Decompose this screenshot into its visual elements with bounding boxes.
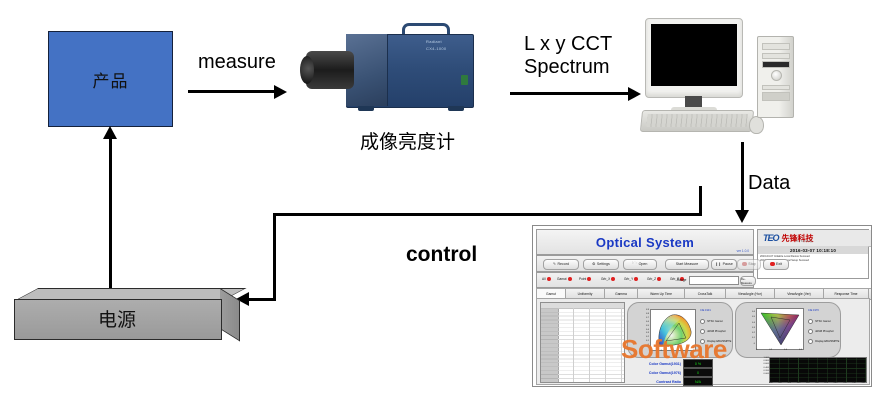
pause-button[interactable]: ❙❙ Pause: [711, 259, 737, 270]
tower-vent: [762, 43, 790, 50]
readout-contrast-ratio-label: Contrast Ratio: [629, 380, 681, 384]
checkbox-grb-x[interactable]: Grb_X: [601, 277, 615, 281]
cie1976-option-0[interactable]: NTSC Gamut: [808, 319, 831, 324]
software-screenshot[interactable]: Optical System ver 1.0.0 TEO 先锋科技 Teo Te…: [532, 225, 872, 387]
cie1976-x-ticks: 00.20.40.6: [756, 349, 802, 351]
readout-contrast-ratio-value: N/A: [683, 377, 713, 386]
pause-icon: ❙❙: [715, 262, 721, 266]
table-row-headers: [541, 308, 559, 382]
software-titlebar: Optical System ver 1.0.0: [536, 229, 754, 255]
cie1976-option-2[interactable]: Display EBU/SMPTE: [808, 339, 839, 344]
radio-icon: [808, 339, 813, 344]
vendor-logo-mark: TEO: [763, 233, 779, 243]
tab-gamma-label: Gamma: [615, 292, 627, 296]
exit-icon: [770, 262, 775, 267]
vendor-logo-sub: Teo Technology: [796, 240, 813, 243]
monitor-bezel: [645, 18, 743, 98]
readout-contrast-ratio: Contrast Ratio N/A: [629, 377, 713, 386]
tab-warm-up-time-label: Warm Up Time: [650, 292, 672, 296]
tab-uniformity-label: Uniformity: [578, 292, 593, 296]
status-dot-icon: [657, 277, 661, 281]
tab-crosstalk-label: CrossTalk: [698, 292, 712, 296]
camera-caption: 成像亮度计: [360, 127, 455, 154]
power-to-product-arrow: [103, 126, 117, 290]
keyboard-keys: [646, 114, 747, 127]
imaging-luminance-meter: Radiant CX4-1000: [298, 20, 473, 115]
data-edge-label: Data: [748, 172, 790, 195]
checkbox-grb-z[interactable]: Grb_Z: [647, 277, 661, 281]
exit-button[interactable]: Exit: [763, 259, 789, 270]
tab-viewangle-hor-label: ViewAngle (Hor): [738, 292, 762, 296]
status-dot-icon: [611, 277, 615, 281]
status-dot-icon: [587, 277, 591, 281]
cie1976-option-1[interactable]: sRGB Phosphor: [808, 329, 834, 334]
keyboard: [640, 110, 754, 132]
cie1976-y-ticks: 0.60.50.40.30.20.10: [746, 310, 755, 347]
range-label: Range: [677, 278, 686, 282]
checkbox-point-label: Point: [579, 277, 586, 281]
tower-drive-slot: [762, 61, 790, 68]
pause-button-label: Pause: [723, 262, 733, 266]
cie1931-option-0[interactable]: NTSC Gamut: [700, 319, 723, 324]
checkbox-grb-y[interactable]: Grb_Y: [624, 277, 638, 281]
cie1976-plot[interactable]: [756, 308, 804, 350]
signal-edge-label: L x y CCT Spectrum: [524, 33, 612, 79]
tab-response-time-label: Response Time: [835, 292, 858, 296]
readout-color-gamut-1976: Color Gamut(1976) 0: [629, 368, 713, 377]
cie1976-options: CIE 1976 NTSC Gamut sRGB Phosphor Displa…: [806, 309, 846, 353]
camera-brand-text: Radiant: [426, 39, 442, 44]
cie1931-option-0-label: NTSC Gamut: [707, 320, 723, 323]
cie1976-gamut-icon: [757, 309, 803, 349]
checkbox-all-label: All: [542, 277, 546, 281]
tower-panel-line: [762, 85, 790, 90]
vendor-logo-row: TEO 先锋科技 Teo Technology: [758, 230, 872, 247]
cie1931-caption: CIE 1931: [700, 309, 711, 312]
spectrum-chart[interactable]: [769, 357, 867, 383]
power-supply-side-face: [220, 288, 240, 341]
re-measure-button[interactable]: Re-Measure: [740, 276, 756, 286]
radio-icon: [700, 319, 705, 324]
tab-viewangle-ver-label: ViewAngle (Ver): [787, 292, 811, 296]
stop-button-label: Stop: [748, 262, 755, 266]
cie1976-option-0-label: NTSC Gamut: [815, 320, 831, 323]
camera-lens: [306, 51, 354, 89]
software-title: Optical System: [596, 235, 694, 250]
signal-arrow: [510, 87, 642, 101]
checkbox-all[interactable]: All: [542, 277, 551, 281]
stop-icon: [742, 262, 747, 267]
software-watermark: Software: [621, 334, 727, 365]
open-button-label: Open: [639, 262, 648, 266]
product-node: 产品: [48, 31, 173, 127]
checkbox-gamut-label: Gamut: [557, 277, 567, 281]
checkbox-grb-x-label: Grb_X: [601, 277, 610, 281]
computer-node: [645, 18, 775, 138]
camera-foot-left: [358, 106, 374, 111]
camera-foot-right: [448, 106, 464, 111]
cie1976-option-1-label: sRGB Phosphor: [815, 330, 834, 333]
status-dot-icon: [568, 277, 572, 281]
settings-button-label: Settings: [597, 262, 610, 266]
product-label: 产品: [93, 67, 129, 92]
folder-icon: 🗁: [633, 261, 637, 267]
software-filter-bar: All Gamut Point Grb_X Grb_Y Grb_Z Grb_R …: [536, 272, 754, 288]
record-button-label: Record: [557, 262, 569, 266]
start-measure-button-label: Start Measure: [676, 262, 699, 266]
radio-icon: [808, 319, 813, 324]
vendor-logo-panel: TEO 先锋科技 Teo Technology 2016-03-07 10:18…: [757, 229, 869, 279]
cie1931-option-1-label: sRGB Phosphor: [707, 330, 726, 333]
camera-indicator-led: [461, 75, 468, 85]
pc-tower: [757, 36, 794, 118]
readout-color-gamut-1976-value: 0: [683, 368, 713, 377]
measurement-table[interactable]: [540, 302, 625, 383]
range-input[interactable]: [689, 276, 739, 285]
checkbox-grb-z-label: Grb_Z: [647, 277, 656, 281]
power-supply-label: 电源: [14, 299, 220, 338]
mouse: [749, 116, 764, 134]
open-button[interactable]: 🗁 Open: [623, 259, 657, 270]
table-cells-grid: [558, 308, 624, 382]
stop-button[interactable]: Stop: [737, 259, 761, 270]
tower-optical-drive: [762, 53, 790, 59]
gear-icon: ⚙: [592, 262, 595, 266]
re-measure-button-label: Re-Measure: [741, 277, 755, 285]
pencil-icon: ✎: [553, 262, 556, 266]
monitor-screen: [651, 24, 737, 86]
checkbox-grb-y-label: Grb_Y: [624, 277, 633, 281]
table-row-header-lines: [541, 308, 558, 382]
radio-icon: [808, 329, 813, 334]
spectrum-gridlines: [770, 358, 866, 382]
cie1976-option-2-label: Display EBU/SMPTE: [815, 340, 839, 343]
software-version: ver 1.0.0: [737, 249, 749, 253]
settings-button[interactable]: ⚙ Settings: [583, 259, 619, 270]
measure-arrow: [188, 85, 290, 99]
software-datetime: 2016-03-07 10:18:10: [758, 246, 868, 254]
status-dot-icon: [634, 277, 638, 281]
software-toolbar: ✎ Record ⚙ Settings 🗁 Open Start Measure…: [536, 255, 754, 272]
cie1976-caption: CIE 1976: [808, 309, 819, 312]
cie1976-panel: 0.60.50.40.30.20.10 00.20.40.6 CIE 1976 …: [735, 302, 841, 358]
checkbox-gamut[interactable]: Gamut: [557, 277, 572, 281]
tower-front-ports: [762, 92, 790, 101]
readout-color-gamut-1976-label: Color Gamut(1976): [629, 371, 681, 375]
spectrum-y-ticks: 1.0000.8000.6000.4000.2000.000: [761, 357, 769, 376]
camera-model-text: CX4-1000: [426, 46, 446, 51]
record-button[interactable]: ✎ Record: [543, 259, 579, 270]
power-button-icon: [771, 70, 782, 81]
spectrum-x-ticks: 380420460500540580620660700740780: [769, 382, 865, 384]
tab-gamut-label: Gamut: [546, 292, 556, 296]
control-edge-label: control: [406, 243, 477, 267]
status-dot-icon: [547, 277, 551, 281]
exit-button-label: Exit: [776, 262, 782, 266]
power-supply-node: 电源: [14, 288, 246, 339]
checkbox-point[interactable]: Point: [579, 277, 591, 281]
measure-edge-label: measure: [198, 51, 276, 74]
start-measure-button[interactable]: Start Measure: [665, 259, 709, 270]
